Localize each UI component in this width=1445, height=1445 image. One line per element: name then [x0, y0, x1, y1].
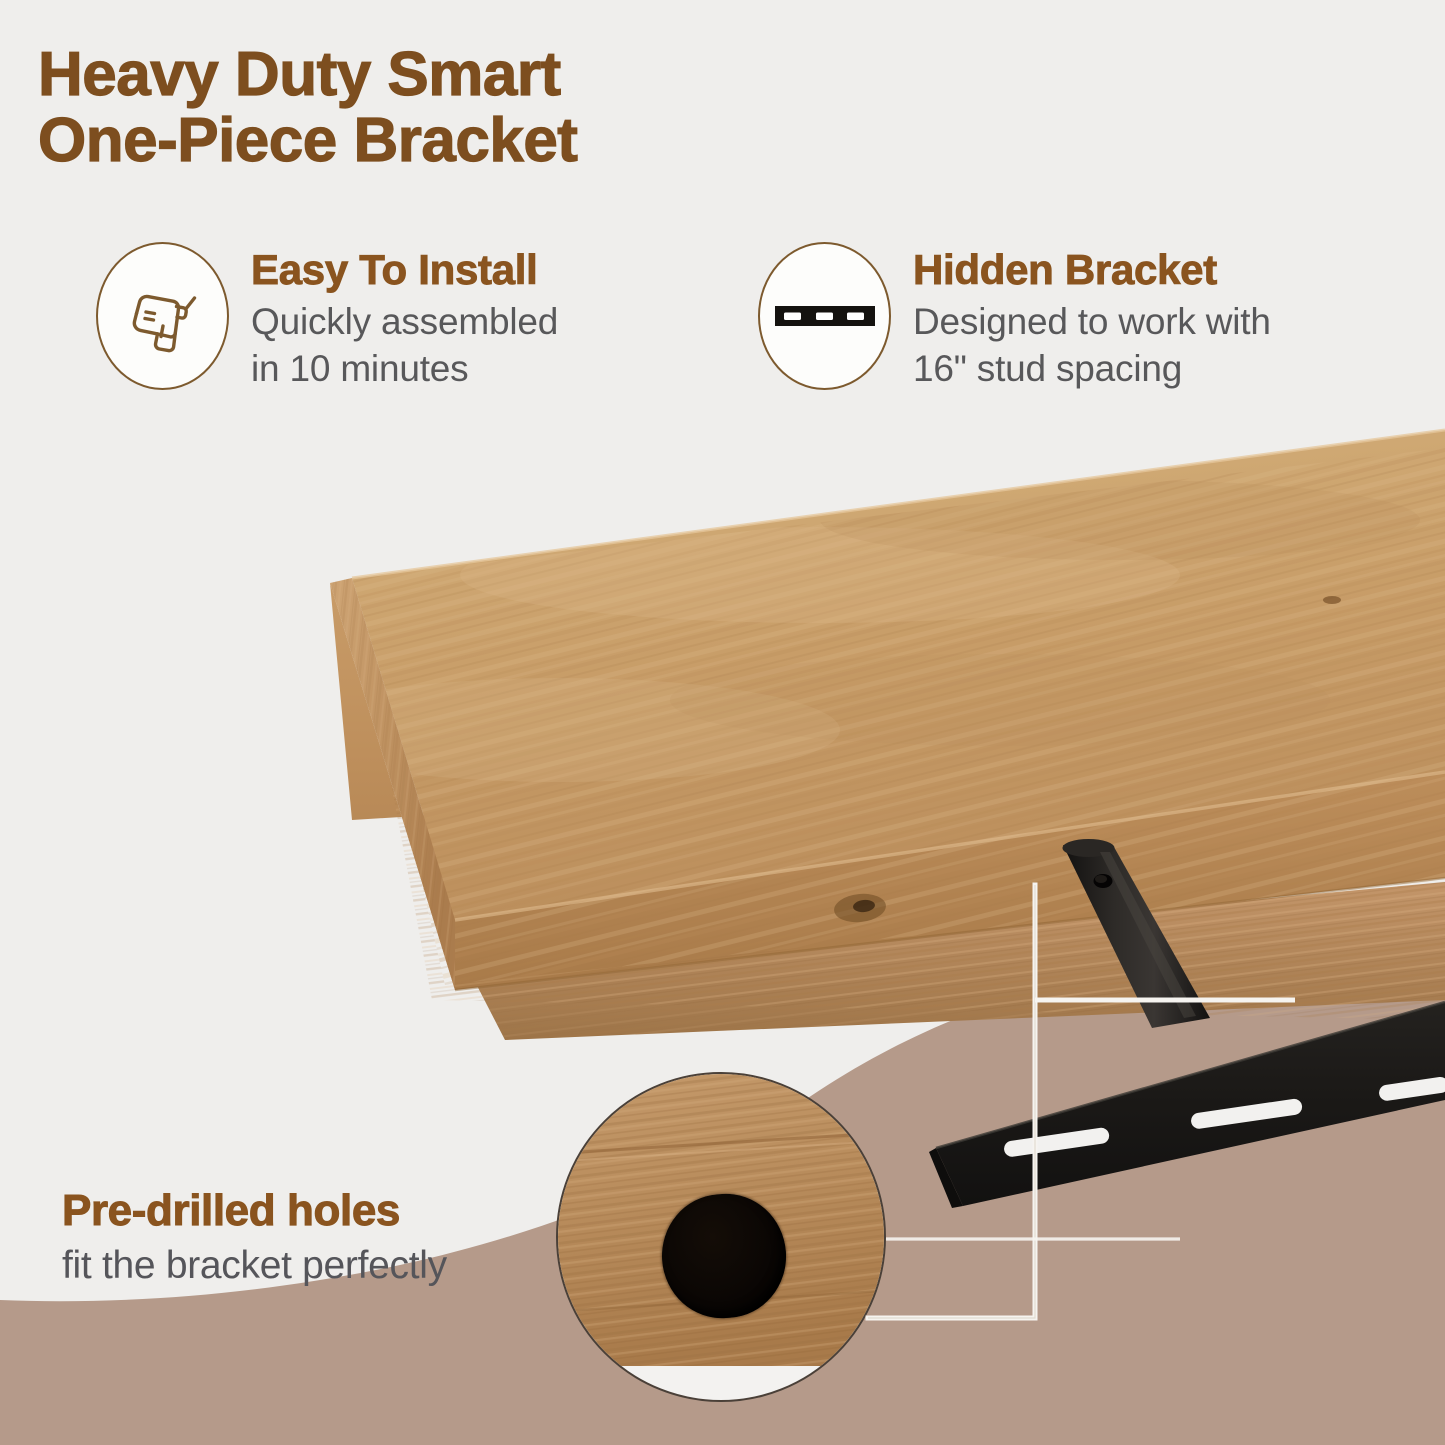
feature-desc-line-1: Quickly assembled	[251, 298, 558, 345]
feature-desc-line-2: 16" stud spacing	[913, 345, 1271, 392]
feature-desc-line-2: in 10 minutes	[251, 345, 558, 392]
pre-drilled-holes-caption: Pre-drilled holes fit the bracket perfec…	[62, 1186, 582, 1290]
feature-hidden-bracket: Hidden Bracket Designed to work with 16"…	[758, 242, 1271, 392]
feature-description: Quickly assembled in 10 minutes	[251, 298, 558, 392]
drill-icon	[120, 273, 206, 359]
feature-text: Easy To Install Quickly assembled in 10 …	[251, 242, 558, 392]
feature-list: Easy To Install Quickly assembled in 10 …	[0, 242, 1445, 412]
feature-description: Designed to work with 16" stud spacing	[913, 298, 1271, 392]
headline-line-1: Heavy Duty Smart	[38, 40, 561, 109]
feature-text: Hidden Bracket Designed to work with 16"…	[913, 242, 1271, 392]
feature-title: Hidden Bracket	[913, 246, 1271, 294]
caption-description: fit the bracket perfectly	[62, 1242, 582, 1290]
feature-desc-line-1: Designed to work with	[913, 298, 1271, 345]
drill-icon-badge	[96, 242, 229, 390]
product-feature-image: Heavy Duty Smart One-Piece Bracket	[0, 0, 1445, 1445]
page-title: Heavy Duty Smart One-Piece Bracket	[38, 42, 858, 174]
feature-easy-to-install: Easy To Install Quickly assembled in 10 …	[96, 242, 558, 392]
hidden-bracket-icon	[773, 296, 877, 336]
feature-title: Easy To Install	[251, 246, 558, 294]
magnified-hole-callout	[556, 1072, 886, 1402]
headline-line-2: One-Piece Bracket	[38, 108, 858, 174]
caption-title: Pre-drilled holes	[62, 1186, 582, 1236]
hidden-bracket-icon-badge	[758, 242, 891, 390]
